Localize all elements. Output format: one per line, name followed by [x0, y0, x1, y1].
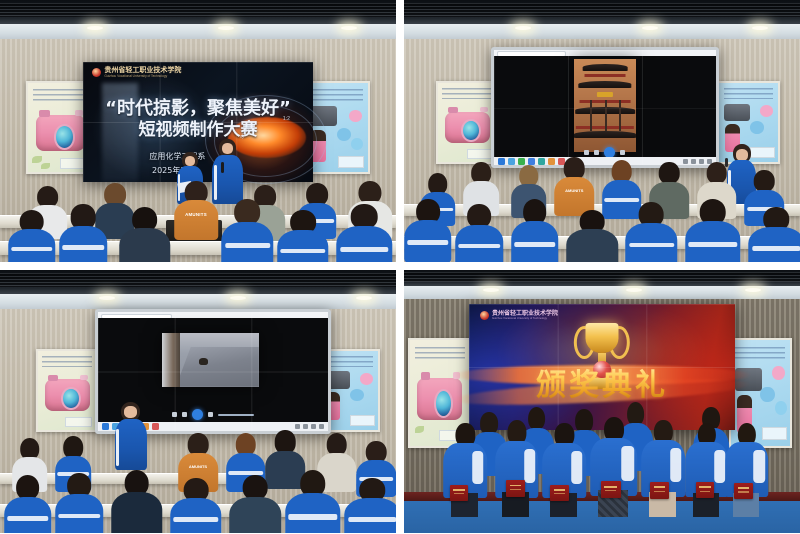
downlight-icon — [230, 296, 246, 300]
audience-member — [626, 202, 677, 262]
audience-member — [566, 210, 617, 262]
certificate — [506, 480, 524, 497]
audience-member — [277, 210, 328, 262]
downlight-icon — [515, 26, 531, 30]
prev-button[interactable] — [172, 412, 177, 417]
leaf-icon — [32, 156, 42, 163]
university-logo: 贵州省轻工职业技术学院 Guizhou Vocational Universit… — [92, 66, 181, 78]
camera-viewfinder-icon — [421, 372, 431, 380]
system-tray[interactable] — [295, 424, 324, 429]
photo-entry-screening-video: AMUNITS — [0, 270, 396, 533]
audience-member — [404, 199, 452, 262]
flower-icon — [351, 138, 363, 150]
downlight-icon — [341, 26, 357, 30]
slide-subtitle-line2: 2025年3月 — [33, 165, 313, 176]
taskbar-app-icon[interactable] — [518, 158, 525, 165]
audience-member — [111, 470, 162, 533]
downlight-icon — [356, 296, 372, 300]
jacket-brand-text: AMUNITS — [185, 212, 207, 217]
poster-caption-box — [467, 149, 493, 159]
video-pavilion[interactable] — [574, 59, 636, 152]
winner-front-row — [495, 420, 539, 517]
university-name-en: Guizhou Vocational University of Technol… — [104, 74, 181, 78]
media-controls[interactable] — [149, 412, 278, 418]
certificate — [550, 485, 568, 501]
audience-member-highlight: AMUNITS — [554, 157, 594, 215]
slide-title-line2: 短视频制作大赛 — [83, 115, 313, 140]
university-seal-icon — [92, 68, 101, 77]
winner-front-row — [590, 417, 638, 517]
poster-handwriting — [324, 356, 374, 367]
award-ceremony-title: 颁奖典礼 — [469, 360, 734, 404]
taskbar-app-icon[interactable] — [538, 158, 545, 165]
presenter-face — [222, 143, 233, 154]
poster-handwriting — [724, 88, 774, 99]
pavilion-plaque — [597, 92, 613, 97]
poster-handwriting — [735, 347, 785, 362]
pavilion-column — [605, 100, 607, 132]
next-button[interactable] — [620, 150, 625, 155]
audience-member — [455, 204, 503, 262]
audience-member — [55, 473, 103, 534]
presenter-female — [115, 402, 147, 470]
downlight-icon — [626, 288, 642, 292]
ceiling-soffit — [0, 24, 396, 40]
downlight-icon — [483, 288, 499, 292]
audience-member — [119, 207, 170, 262]
audience-member-highlight: AMUNITS — [174, 181, 218, 239]
poster-handwriting — [33, 89, 88, 101]
poster-handwriting — [415, 347, 465, 362]
stop-button[interactable] — [182, 412, 187, 417]
jacket-brand-text: AMUNITS — [189, 464, 207, 469]
flower-icon — [775, 401, 787, 415]
audience-member — [170, 478, 221, 533]
flower-icon — [350, 389, 364, 402]
pavilion-column — [590, 100, 592, 132]
ceiling — [0, 0, 396, 24]
downlight-icon — [745, 288, 761, 292]
audience-torso: AMUNITS — [174, 200, 218, 239]
jacket-brand-text: AMUNITS — [565, 188, 583, 193]
pavilion-deck — [584, 74, 625, 77]
audience-member — [685, 199, 740, 262]
flower-icon — [349, 110, 362, 122]
wall-poster-left — [36, 349, 99, 432]
pavilion-roof-icon — [574, 131, 636, 137]
camera-lens-icon — [434, 389, 453, 418]
video-walkway[interactable] — [162, 333, 258, 387]
flower-icon — [337, 128, 351, 141]
presenter-head — [219, 139, 235, 157]
camera-lens-icon — [61, 387, 80, 410]
certificate — [450, 485, 468, 501]
audience-member — [285, 470, 340, 533]
audience-member — [230, 475, 281, 533]
microphone-icon — [221, 162, 224, 172]
university-logo: 贵州省轻工职业技术学院 Guizhou Vocational Universit… — [480, 310, 558, 321]
university-name-en: Guizhou Vocational University of Technol… — [492, 317, 558, 321]
presenter-face — [185, 156, 196, 166]
ceiling-soffit — [404, 286, 800, 299]
winner-front-row — [725, 423, 769, 518]
taskbar-app-icon[interactable] — [152, 423, 159, 430]
screen-content-area — [494, 56, 716, 157]
certificate — [696, 482, 714, 498]
start-icon[interactable] — [102, 423, 109, 430]
seek-bar[interactable] — [218, 414, 254, 416]
flower-icon — [360, 373, 373, 385]
poster-caption-box — [65, 417, 92, 427]
winner-front-row — [685, 423, 729, 518]
university-name-cn: 贵州省轻工职业技术学院 — [104, 66, 181, 74]
stop-button[interactable] — [594, 150, 599, 155]
interactive-flat-panel[interactable] — [491, 47, 719, 168]
next-button[interactable] — [208, 412, 213, 417]
flower-icon — [772, 366, 785, 381]
flower-icon — [760, 387, 774, 403]
poster-caption-box — [338, 156, 365, 168]
media-controls[interactable] — [543, 150, 667, 156]
audience-member — [8, 210, 56, 262]
winner-front-row — [642, 420, 686, 517]
trophy-cup — [586, 323, 619, 353]
winner-front-row — [444, 423, 488, 518]
ceiling — [404, 0, 800, 24]
camera-lens-icon — [54, 124, 75, 149]
ceiling — [0, 270, 396, 294]
winner-front-row — [543, 423, 587, 518]
camera-flash-icon — [75, 110, 83, 116]
camera-viewfinder-icon — [39, 110, 49, 117]
university-seal-icon — [480, 311, 489, 320]
audience-member — [4, 475, 52, 533]
play-button[interactable] — [192, 409, 203, 420]
downlight-icon — [642, 26, 658, 30]
flower-icon — [760, 105, 773, 117]
flower-icon — [750, 121, 764, 134]
leaf-icon — [415, 426, 425, 433]
camera-viewfinder-icon — [48, 375, 58, 381]
camera-lens-icon — [461, 119, 480, 142]
certificate — [650, 482, 668, 499]
camera-viewfinder-icon — [448, 107, 458, 113]
dog-icon — [199, 358, 208, 365]
audience-member — [749, 207, 800, 262]
pavilion-column — [619, 100, 621, 132]
photo-collage: 贵州省轻工职业技术学院 Guizhou Vocational Universit… — [0, 0, 800, 533]
downlight-icon — [99, 296, 115, 300]
wall-poster-left — [436, 81, 499, 164]
poster-handwriting — [42, 356, 92, 367]
presenter-face — [736, 149, 748, 161]
walkway-railing — [162, 333, 179, 387]
ratio-badge: 1:2 — [283, 116, 290, 122]
poster-handwriting — [308, 89, 363, 101]
certificate — [601, 481, 621, 498]
audience-member — [222, 199, 273, 262]
audience-member — [337, 204, 392, 262]
presenter-head — [121, 402, 140, 421]
start-icon[interactable] — [498, 158, 505, 165]
poster-caption-box — [350, 415, 375, 426]
certificate — [734, 483, 752, 499]
ceiling-soffit — [404, 24, 800, 40]
audience-member — [511, 199, 559, 262]
camera-flash-icon — [80, 375, 87, 381]
taskbar-app-icon[interactable] — [528, 158, 535, 165]
pavilion-roof-icon — [578, 81, 631, 87]
photo-entry-screening-pavilion: AMUNITS — [404, 0, 800, 262]
pavilion-roof-icon — [583, 64, 628, 70]
downlight-icon — [752, 26, 768, 30]
taskbar-app-icon[interactable] — [508, 158, 515, 165]
camera-drawing-icon — [724, 104, 750, 121]
audience-member — [345, 478, 396, 533]
downlight-icon — [218, 26, 234, 30]
poster-handwriting — [442, 88, 492, 99]
ceiling-soffit — [0, 294, 396, 310]
prev-button[interactable] — [584, 150, 589, 155]
downlight-icon — [87, 26, 103, 30]
ceiling — [404, 270, 800, 286]
audience-member — [59, 204, 107, 262]
camera-flash-icon — [480, 107, 487, 113]
presenter-body — [115, 419, 147, 470]
presenter-face — [124, 406, 137, 418]
photo-opening-ceremony: 贵州省轻工职业技术学院 Guizhou Vocational Universit… — [0, 0, 396, 262]
photo-award-ceremony: 贵州省轻工职业技术学院 Guizhou Vocational Universit… — [404, 270, 800, 533]
